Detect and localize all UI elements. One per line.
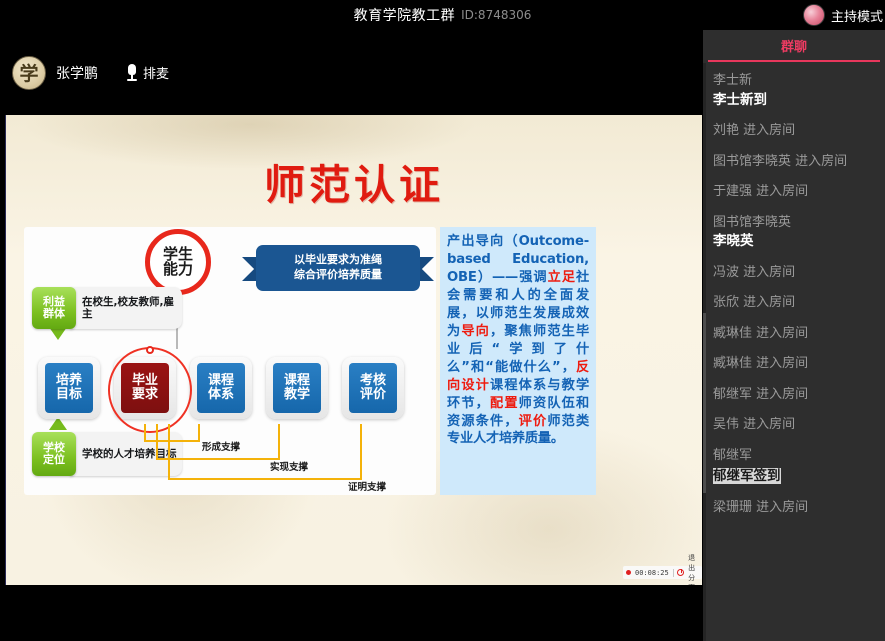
ability-line-2: 能力	[163, 262, 193, 277]
support-arrow-2	[156, 424, 158, 460]
box-line-1: 考核	[360, 374, 386, 388]
chat-message-list[interactable]: 李士新李士新到刘艳 进入房间图书馆李晓英 进入房间于建强 进入房间图书馆李晓英李…	[703, 63, 885, 641]
box-line-1: 毕业	[132, 374, 158, 388]
support-label-3: 证明支撑	[348, 479, 386, 493]
chat-message[interactable]: 图书馆李晓英 进入房间	[713, 152, 877, 172]
host-mode-button[interactable]: 主持模式	[803, 2, 885, 28]
box-line-2: 评价	[360, 388, 386, 402]
stakeholder-badge: 利益 群体	[32, 287, 76, 329]
support-line-1	[144, 440, 200, 442]
slide-title: 师范认证	[6, 151, 702, 211]
obe-text-segment-1: 立足	[548, 270, 576, 285]
user-strip: 学 张学鹏 排麦	[0, 30, 703, 115]
chat-message-sender: 郁继军	[713, 446, 877, 466]
chat-message-sender: 冯波 进入房间	[713, 263, 877, 283]
chat-message-sender: 梁珊珊 进入房间	[713, 498, 877, 518]
app-root: 教育学院教工群 ID:8748306 主持模式 学 张学鹏 排麦 师范认证 学生…	[0, 0, 885, 641]
student-ability-node: 学生 能力	[145, 229, 211, 295]
chat-message[interactable]: 臧琳佳 进入房间	[713, 324, 877, 344]
support-line-1b	[198, 424, 200, 442]
box-line-2: 目标	[56, 388, 82, 402]
banner-body: 以毕业要求为准绳 综合评价培养质量	[256, 245, 420, 291]
stop-share-icon[interactable]	[677, 569, 684, 576]
chat-panel: 群聊 李士新李士新到刘艳 进入房间图书馆李晓英 进入房间于建强 进入房间图书馆李…	[703, 30, 885, 641]
process-box-course-teaching: 课程 教学	[266, 357, 328, 419]
shared-slide[interactable]: 师范认证 学生 能力 以毕业要求为准绳 综合评价培养质量 利益 群体	[5, 115, 702, 585]
host-avatar-icon	[803, 4, 825, 26]
obe-diagram: 学生 能力 以毕业要求为准绳 综合评价培养质量 利益 群体 在校生,校友教师,雇…	[24, 227, 436, 495]
school-position-badge: 学校 定位	[32, 432, 76, 476]
support-line-2	[156, 458, 280, 460]
school-badge-line-2: 定位	[43, 454, 65, 466]
chat-message-sender: 图书馆李晓英	[713, 213, 877, 233]
banner: 以毕业要求为准绳 综合评价培养质量	[242, 245, 434, 291]
avatar[interactable]: 学	[12, 56, 46, 90]
chat-message-sender: 臧琳佳 进入房间	[713, 324, 877, 344]
user-name: 张学鹏	[56, 63, 98, 83]
support-arrow-3	[168, 424, 170, 480]
recording-toolbar[interactable]: 00:08:25 退出分享	[623, 566, 702, 579]
stakeholder-tag: 利益 群体 在校生,校友教师,雇主	[32, 287, 182, 329]
obe-description-block: 产出导向（Outcome-based Education, OBE）——强调立足…	[440, 227, 596, 495]
chat-tab-group[interactable]: 群聊	[703, 30, 885, 60]
process-box-curriculum-system: 课程 体系	[190, 357, 252, 419]
process-box-row: 培养 目标 毕业 要求 课程 体系	[38, 357, 404, 419]
room-id: ID:8748306	[461, 8, 531, 22]
school-position-tag: 学校 定位 学校的人才培养目标	[32, 432, 182, 476]
chat-message-text: 李晓英	[713, 232, 877, 252]
support-line-3	[168, 478, 362, 480]
box-line-2: 要求	[132, 388, 158, 402]
microphone-icon	[126, 64, 138, 82]
chat-message[interactable]: 李士新李士新到	[713, 71, 877, 110]
box-line-2: 体系	[208, 388, 234, 402]
support-label-2: 实现支撑	[270, 459, 308, 473]
chat-message-sender: 郁继军 进入房间	[713, 385, 877, 405]
stakeholder-badge-line-2: 群体	[43, 308, 65, 320]
support-line-2b	[278, 424, 280, 460]
chat-message-text: 李士新到	[713, 91, 877, 111]
stakeholder-desc: 在校生,校友教师,雇主	[70, 287, 182, 329]
box-line-1: 课程	[284, 374, 310, 388]
host-mode-label: 主持模式	[831, 6, 883, 25]
school-position-desc: 学校的人才培养目标	[70, 432, 182, 476]
connector-dot-icon	[146, 346, 154, 354]
chat-message[interactable]: 臧琳佳 进入房间	[713, 354, 877, 374]
process-box-training-goal: 培养 目标	[38, 357, 100, 419]
chat-message[interactable]: 刘艳 进入房间	[713, 121, 877, 141]
chat-message[interactable]: 郁继军郁继军签到	[713, 446, 877, 487]
chat-message[interactable]: 图书馆李晓英李晓英	[713, 213, 877, 252]
recording-time: 00:08:25	[635, 569, 669, 577]
top-bar: 教育学院教工群 ID:8748306 主持模式	[0, 0, 885, 30]
chat-tab-label: 群聊	[781, 36, 807, 55]
chat-message-sender: 于建强 进入房间	[713, 182, 877, 202]
mic-queue-label: 排麦	[143, 63, 169, 82]
stop-share-label[interactable]: 退出分享	[688, 553, 699, 586]
obe-description-text: 产出导向（Outcome-based Education, OBE）——强调立足…	[447, 233, 589, 448]
support-line-3b	[360, 424, 362, 480]
support-label-1: 形成支撑	[202, 439, 240, 453]
chat-message-sender: 图书馆李晓英 进入房间	[713, 152, 877, 172]
process-box-assessment: 考核 评价	[342, 357, 404, 419]
chat-message[interactable]: 冯波 进入房间	[713, 263, 877, 283]
chat-message-sender: 刘艳 进入房间	[713, 121, 877, 141]
chat-message-text: 郁继军签到	[713, 468, 781, 484]
chat-tab-underline	[708, 60, 880, 62]
chat-message[interactable]: 于建强 进入房间	[713, 182, 877, 202]
box-line-1: 培养	[56, 374, 82, 388]
box-line-2: 教学	[284, 388, 310, 402]
chat-message-sender: 吴伟 进入房间	[713, 415, 877, 435]
record-dot-icon	[626, 570, 631, 575]
chat-message[interactable]: 吴伟 进入房间	[713, 415, 877, 435]
obe-text-segment-9: 评价	[519, 414, 548, 429]
obe-text-segment-7: 配置	[490, 396, 519, 411]
room-title: 教育学院教工群	[354, 5, 456, 25]
chat-message-sender: 李士新	[713, 71, 877, 91]
chat-message[interactable]: 张欣 进入房间	[713, 293, 877, 313]
banner-line-1: 以毕业要求为准绳	[294, 253, 382, 268]
obe-text-segment-3: 导向	[461, 324, 490, 339]
banner-line-2: 综合评价培养质量	[294, 268, 382, 283]
chat-message-sender: 臧琳佳 进入房间	[713, 354, 877, 374]
box-line-1: 课程	[208, 374, 234, 388]
chat-message[interactable]: 梁珊珊 进入房间	[713, 498, 877, 518]
process-box-graduation-requirement: 毕业 要求	[114, 357, 176, 419]
chat-message-sender: 张欣 进入房间	[713, 293, 877, 313]
mic-queue-button[interactable]: 排麦	[126, 63, 169, 82]
chat-message[interactable]: 郁继军 进入房间	[713, 385, 877, 405]
